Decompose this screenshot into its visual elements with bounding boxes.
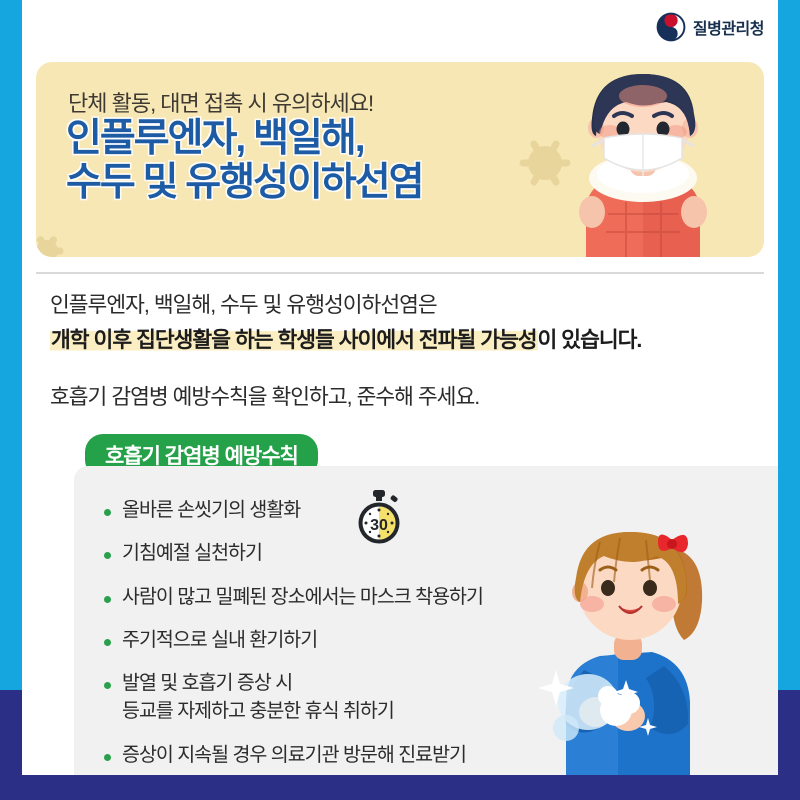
- navy-bottom-band: [0, 775, 800, 800]
- body-line-1: 인플루엔자, 백일해, 수두 및 유행성이하선염은: [50, 288, 750, 323]
- stopwatch-icon: 30: [352, 489, 406, 545]
- banner-title-line1: 인플루엔자, 백일해,: [66, 117, 364, 160]
- girl-washing-hands-illustration: [522, 488, 760, 778]
- body-copy: 인플루엔자, 백일해, 수두 및 유행성이하선염은 개학 이후 집단생활을 하는…: [50, 288, 750, 414]
- list-item: 증상이 지속될 경우 의료기관 방문해 진료받기: [104, 741, 594, 769]
- banner-kicker: 단체 활동, 대면 접촉 시 유의하세요!: [68, 86, 373, 118]
- rule-text: 주기적으로 실내 환기하기: [122, 626, 317, 654]
- list-item: 올바른 손씻기의 생활화: [104, 496, 594, 524]
- list-item: 발열 및 호흡기 증상 시 등교를 자제하고 충분한 휴식 취하기: [104, 669, 594, 726]
- agency-logo: 질병관리청: [656, 12, 764, 42]
- header-banner: 단체 활동, 대면 접촉 시 유의하세요! 인플루엔자, 백일해,수두 및 유행…: [36, 62, 764, 257]
- bullet-dot-icon: [104, 754, 111, 761]
- rule-text: 발열 및 호흡기 증상 시 등교를 자제하고 충분한 휴식 취하기: [122, 669, 394, 726]
- content-card: 질병관리청 단체 활동, 대면 접촉 시 유의하세요! 인플루엔자, 백일해,수…: [22, 0, 778, 778]
- body-line-2-tail: 이 있습니다.: [538, 328, 642, 352]
- list-item: 사람이 많고 밀폐된 장소에서는 마스크 착용하기: [104, 583, 594, 611]
- masked-sick-child-illustration: [548, 62, 738, 257]
- stopwatch-value: 30: [370, 517, 388, 534]
- bullet-dot-icon: [104, 682, 111, 689]
- bullet-dot-icon: [104, 552, 111, 559]
- body-line-2: 개학 이후 집단생활을 하는 학생들 사이에서 전파될 가능성이 있습니다.: [50, 323, 750, 358]
- infographic-page: 질병관리청 단체 활동, 대면 접촉 시 유의하세요! 인플루엔자, 백일해,수…: [0, 0, 800, 800]
- body-highlight: 개학 이후 집단생활을 하는 학생들 사이에서 전파될 가능성: [50, 328, 538, 352]
- taegeuk-icon: [656, 12, 686, 42]
- bullet-dot-icon: [104, 596, 111, 603]
- rule-text: 사람이 많고 밀폐된 장소에서는 마스크 착용하기: [122, 583, 483, 611]
- list-item: 기침예절 실천하기: [104, 539, 594, 567]
- agency-name: 질병관리청: [693, 15, 764, 39]
- body-line-3: 호흡기 감염병 예방수칙을 확인하고, 준수해 주세요.: [50, 380, 750, 415]
- rules-panel: 올바른 손씻기의 생활화 기침예절 실천하기 사람이 많고 밀폐된 장소에서는 …: [74, 466, 778, 778]
- rule-text: 기침예절 실천하기: [122, 539, 262, 567]
- rule-text: 증상이 지속될 경우 의료기관 방문해 진료받기: [122, 741, 466, 769]
- banner-title-line2: 수두 및 유행성이하선염: [66, 161, 422, 204]
- list-item: 주기적으로 실내 환기하기: [104, 626, 594, 654]
- rules-list: 올바른 손씻기의 생활화 기침예절 실천하기 사람이 많고 밀폐된 장소에서는 …: [104, 496, 594, 769]
- bullet-dot-icon: [104, 509, 111, 516]
- virus-particle-icon: [36, 240, 58, 257]
- banner-title: 인플루엔자, 백일해,수두 및 유행성이하선염: [66, 117, 422, 206]
- section-divider: [36, 272, 764, 274]
- bullet-dot-icon: [104, 639, 111, 646]
- rule-text: 올바른 손씻기의 생활화: [122, 496, 300, 524]
